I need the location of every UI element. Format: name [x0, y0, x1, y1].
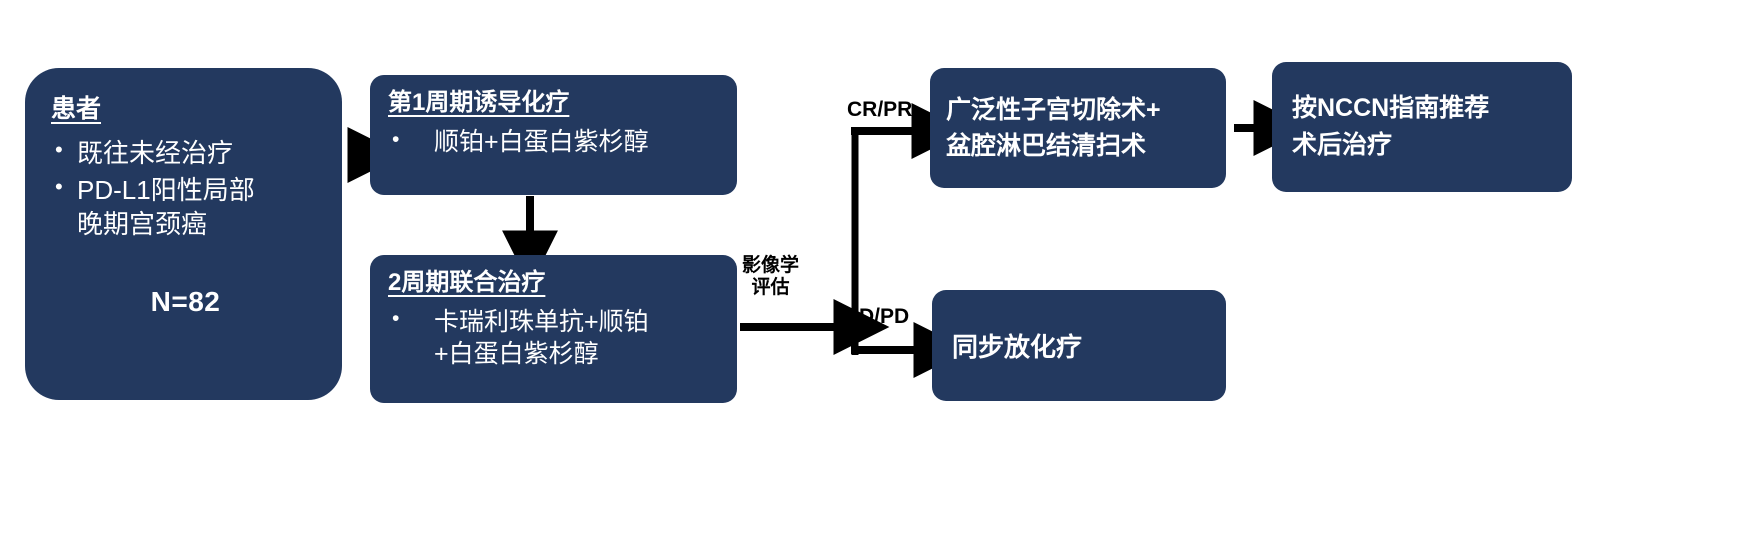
node-induction-regimen-list: 顺铂+白蛋白紫杉醇: [388, 126, 723, 159]
node-patients-title: 患者: [51, 94, 320, 124]
node-induction-title: 第1周期诱导化疗: [388, 89, 723, 118]
nccn-line-2: 术后治疗: [1292, 127, 1560, 165]
criteria-line-1: PD-L1阳性局部: [77, 175, 255, 205]
list-item: 顺铂+白蛋白紫杉醇: [388, 126, 723, 159]
node-patients-criteria-list: 既往未经治疗 PD-L1阳性局部 晚期宫颈癌: [51, 136, 320, 244]
node-combination-title: 2周期联合治疗: [388, 269, 725, 298]
enrollment-count: N=82: [51, 286, 320, 318]
regimen-line-1: 卡瑞利珠单抗+顺铂: [434, 308, 649, 336]
flowchart-canvas: 患者 既往未经治疗 PD-L1阳性局部 晚期宫颈癌 N=82 第1周期诱导化疗 …: [0, 0, 1738, 537]
node-combination-regimen-list: 卡瑞利珠单抗+顺铂 +白蛋白紫杉醇: [388, 306, 725, 370]
surgery-line-2: 盆腔淋巴结清扫术: [946, 128, 1214, 164]
imaging-label-line-1: 影像学: [742, 255, 799, 277]
surgery-line-1: 广泛性子宫切除术+: [946, 92, 1214, 128]
ccrt-line-1: 同步放化疗: [952, 327, 1214, 364]
node-concurrent-chemoradiotherapy[interactable]: 同步放化疗: [932, 290, 1226, 401]
node-radical-surgery[interactable]: 广泛性子宫切除术+ 盆腔淋巴结清扫术: [930, 68, 1226, 188]
edge-label-cr-pr: CR/PR: [847, 98, 912, 123]
edge-label-imaging-assessment: 影像学 评估: [742, 255, 799, 300]
node-nccn-adjuvant-therapy[interactable]: 按NCCN指南推荐 术后治疗: [1272, 62, 1572, 192]
list-item: 卡瑞利珠单抗+顺铂 +白蛋白紫杉醇: [388, 306, 725, 370]
node-combination-therapy[interactable]: 2周期联合治疗 卡瑞利珠单抗+顺铂 +白蛋白紫杉醇: [370, 255, 737, 403]
node-induction-chemotherapy[interactable]: 第1周期诱导化疗 顺铂+白蛋白紫杉醇: [370, 75, 737, 195]
regimen-line-2: +白蛋白紫杉醇: [434, 340, 599, 368]
criteria-line-2: 晚期宫颈癌: [77, 209, 207, 239]
node-patients[interactable]: 患者 既往未经治疗 PD-L1阳性局部 晚期宫颈癌 N=82: [25, 68, 342, 400]
list-item: PD-L1阳性局部 晚期宫颈癌: [51, 173, 320, 242]
nccn-line-1: 按NCCN指南推荐: [1292, 90, 1560, 128]
edge-label-sd-pd: SD/PD: [845, 305, 909, 330]
list-item: 既往未经治疗: [51, 136, 320, 171]
imaging-label-line-2: 评估: [742, 277, 799, 299]
